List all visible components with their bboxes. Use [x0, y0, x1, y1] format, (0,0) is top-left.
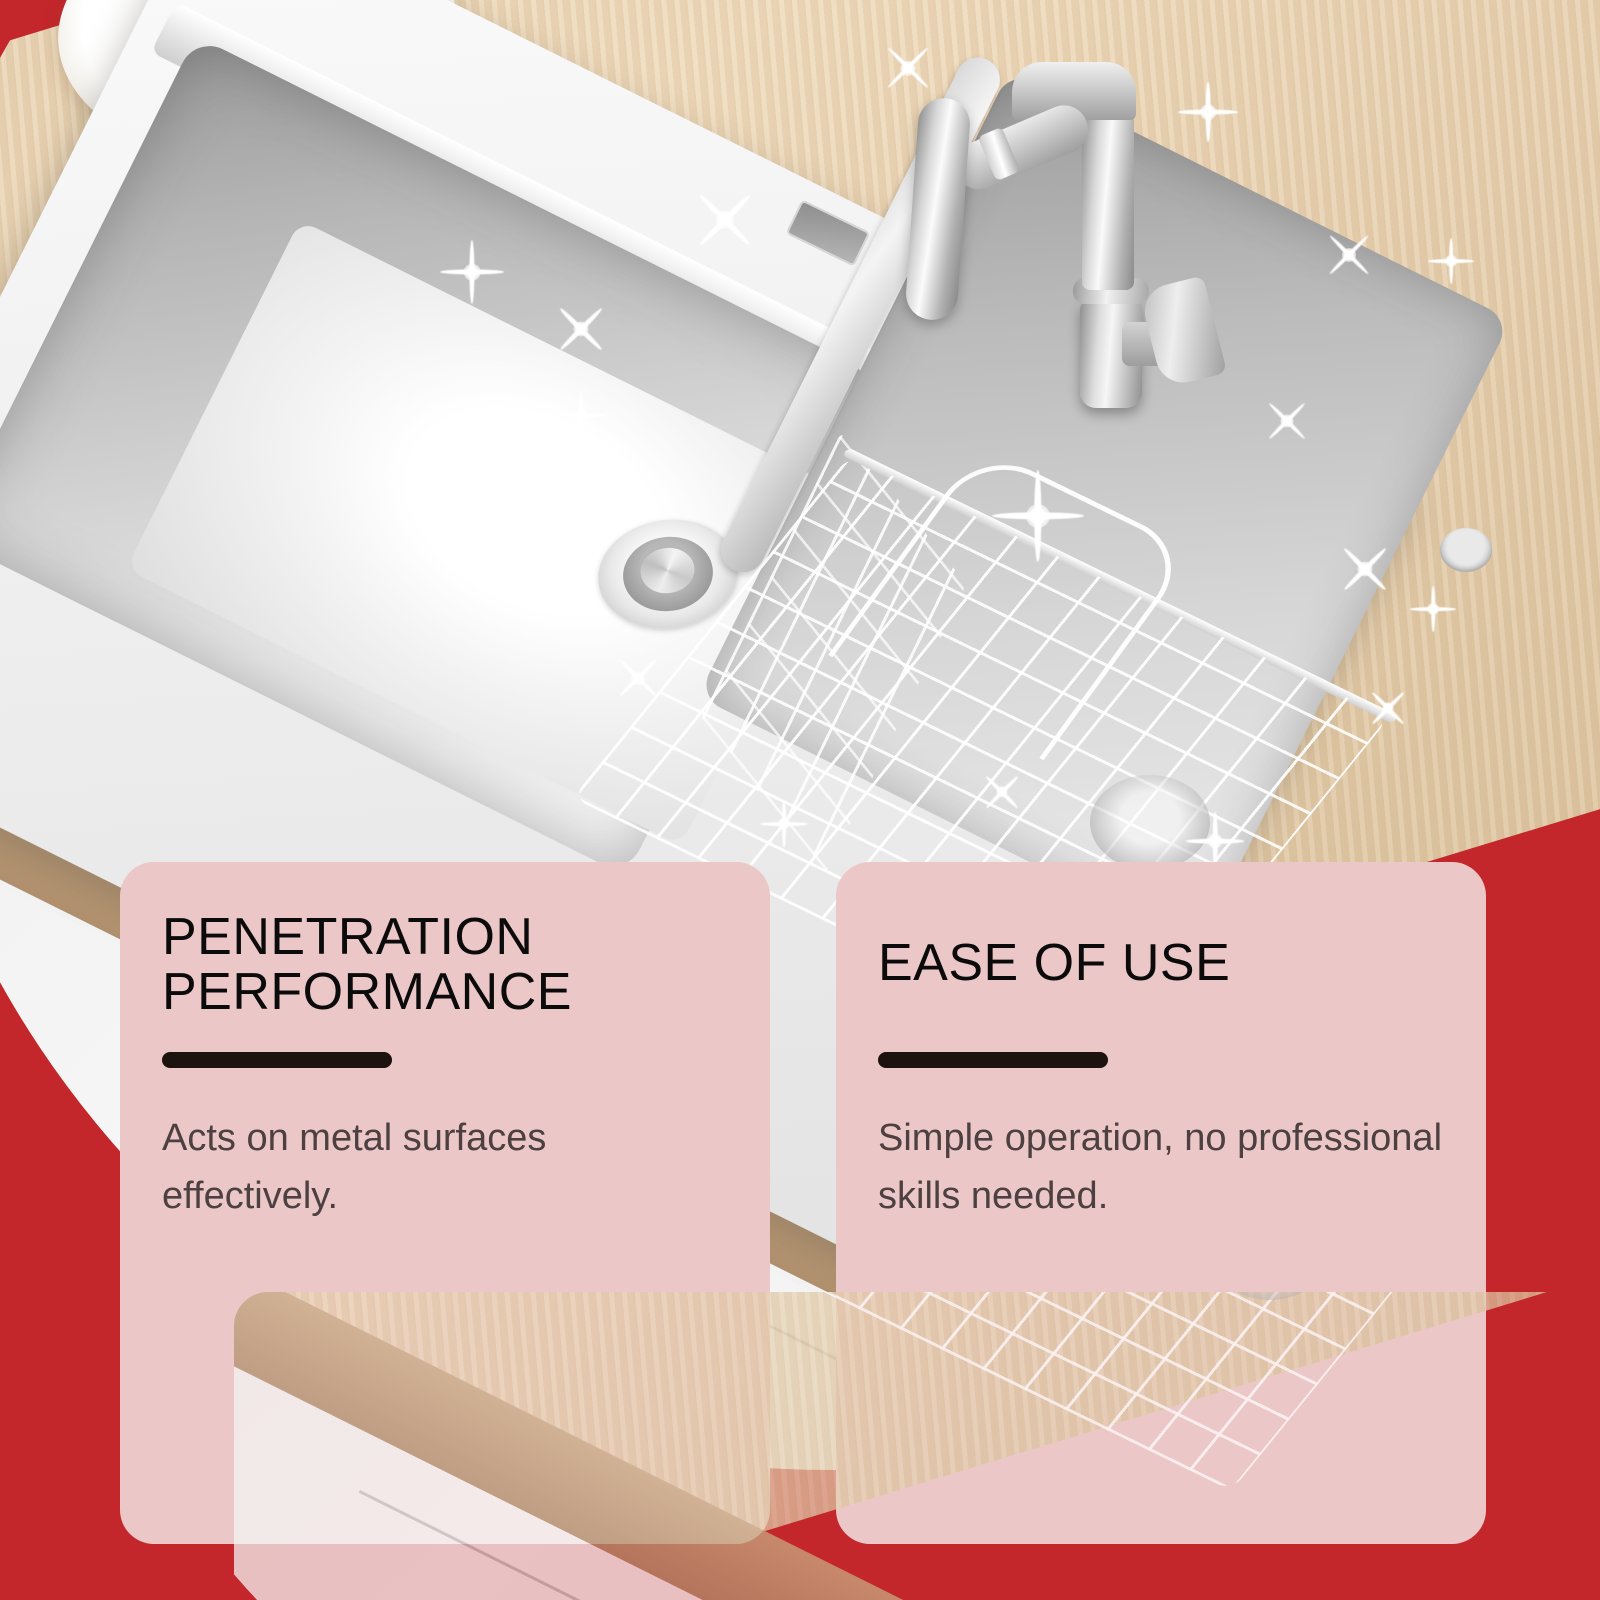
accessory-hole [1440, 528, 1492, 572]
product-feature-banner: PENETRATION PERFORMANCE Acts on metal su… [0, 0, 1600, 1600]
feature-card-ease-of-use[interactable]: EASE OF USE Simple operation, no profess… [836, 862, 1486, 1544]
faucet-column [1082, 110, 1134, 290]
title-underline-rule [162, 1052, 392, 1068]
basket-drain-reflection [1090, 775, 1210, 870]
feature-card-body: Acts on metal surfaces effectively. [162, 1110, 728, 1226]
feature-card-penetration-performance[interactable]: PENETRATION PERFORMANCE Acts on metal su… [120, 862, 770, 1544]
feature-card-title: PENETRATION PERFORMANCE [162, 910, 742, 1020]
title-underline-rule [878, 1052, 1108, 1068]
feature-card-title: EASE OF USE [878, 936, 1458, 991]
feature-card-body: Simple operation, no professional skills… [878, 1110, 1444, 1226]
